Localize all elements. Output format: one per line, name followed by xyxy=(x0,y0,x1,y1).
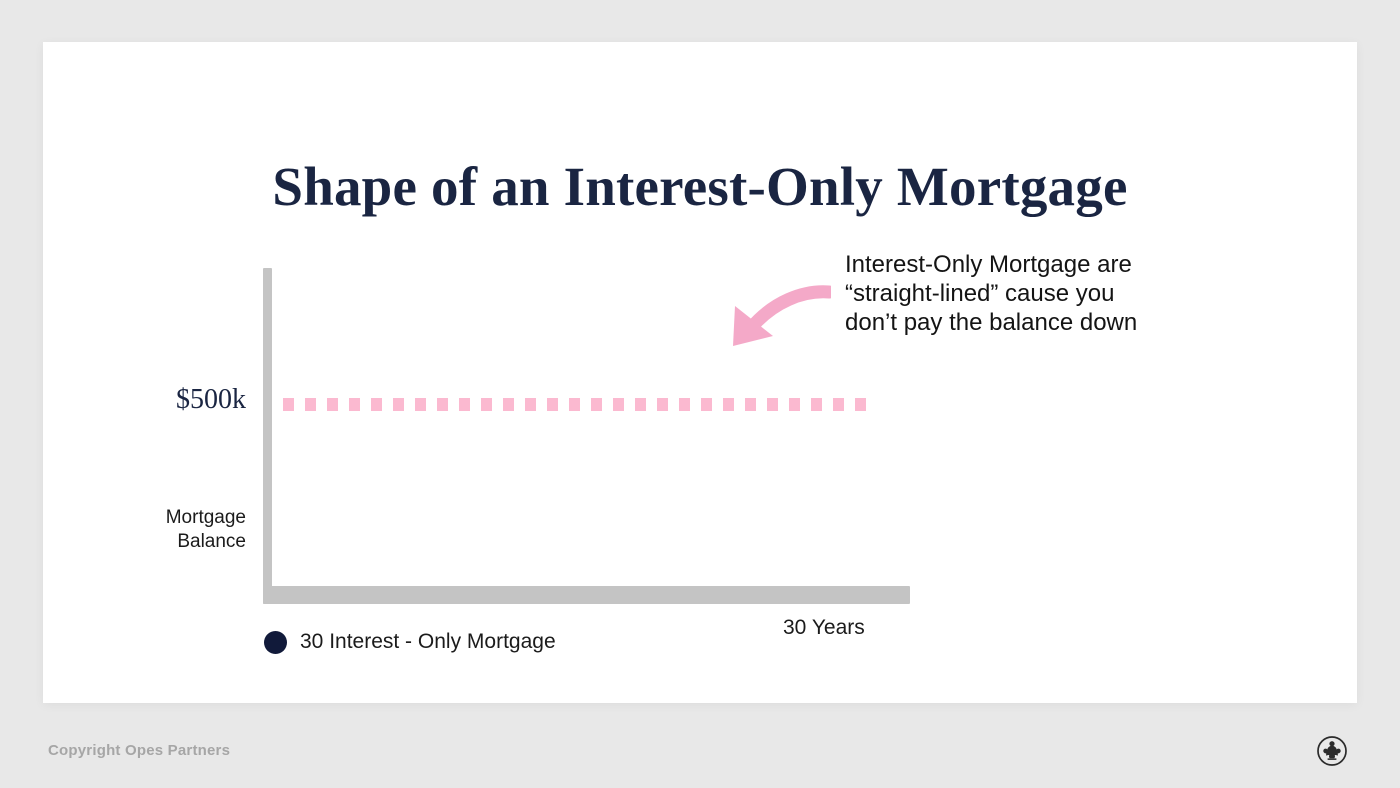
interest-only-mortgage-chart: $500k Mortgage Balance 30 Years 30 Inter… xyxy=(43,42,1357,703)
annotation-callout-text: Interest-Only Mortgage are “straight-lin… xyxy=(845,250,1137,337)
chart-legend: 30 Interest - Only Mortgage xyxy=(264,630,556,654)
legend-swatch-icon xyxy=(264,631,287,654)
curved-arrow-icon xyxy=(711,272,831,352)
legend-item-label: 30 Interest - Only Mortgage xyxy=(300,630,556,654)
x-axis-line xyxy=(263,586,910,604)
x-axis-title: 30 Years xyxy=(783,616,865,640)
fleur-de-lis-logo-icon xyxy=(1316,735,1348,767)
series-line-interest-only-mortgage xyxy=(283,398,873,411)
y-axis-line xyxy=(263,268,272,604)
footer-copyright: Copyright Opes Partners xyxy=(48,742,230,759)
slide-card: Shape of an Interest-Only Mortgage $500k… xyxy=(43,42,1357,703)
y-axis-title: Mortgage Balance xyxy=(43,506,246,554)
y-axis-tick-label-500k: $500k xyxy=(43,384,246,416)
